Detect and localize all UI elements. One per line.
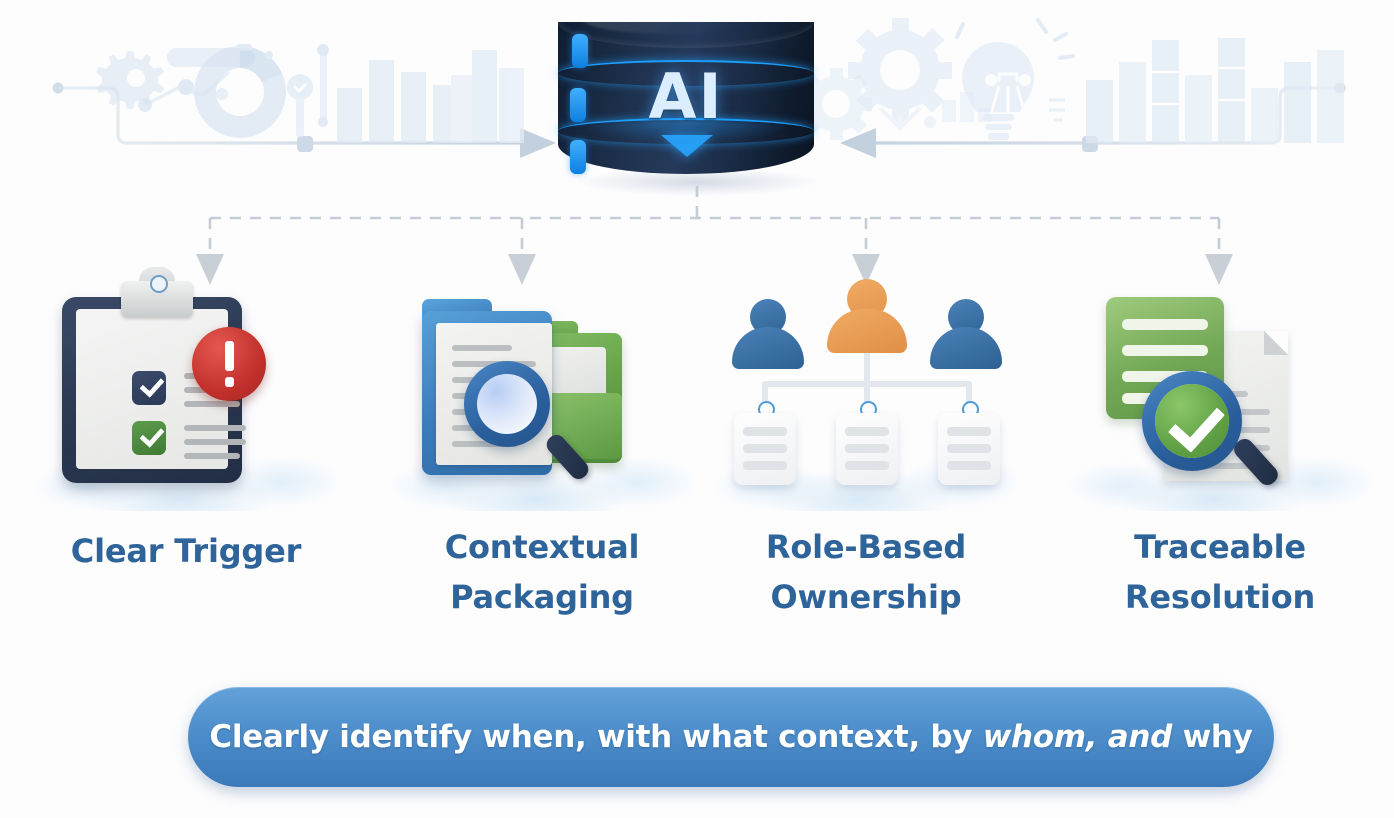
document-check-search-icon xyxy=(1070,275,1370,505)
banner-italic-and: and xyxy=(1108,719,1172,755)
card-line xyxy=(947,461,991,470)
cylinder-gloss xyxy=(582,4,762,34)
card-line xyxy=(947,444,991,453)
deco-lightbulb xyxy=(957,20,1073,140)
deco-gear-right-large xyxy=(848,18,992,130)
check-icon xyxy=(139,422,164,448)
column-label-line1: Role-Based xyxy=(716,523,1016,573)
text-line xyxy=(184,401,240,407)
deco-bar-chart-left xyxy=(337,50,524,143)
card-line xyxy=(947,427,991,436)
magnifier-ring xyxy=(464,361,550,447)
summary-banner[interactable]: Clearly identify when, with what context… xyxy=(188,687,1274,787)
column-role-based-ownership: Role-Based Ownership xyxy=(716,275,1016,622)
flow-track-right xyxy=(840,83,1346,159)
magnifier-glass xyxy=(477,374,537,434)
column-label-line2: Resolution xyxy=(1070,573,1370,623)
approved-check-badge xyxy=(1155,384,1229,458)
flow-track-left xyxy=(53,83,557,159)
column-label-line1: Traceable xyxy=(1070,523,1370,573)
deco-scatter-line xyxy=(138,48,255,112)
card-line xyxy=(845,461,889,470)
card-line xyxy=(743,427,787,436)
person-body-right xyxy=(930,327,1002,369)
note-line xyxy=(1122,345,1208,356)
column-label: Contextual Packaging xyxy=(392,523,692,622)
check-icon xyxy=(139,372,164,398)
checkbox-checked-navy xyxy=(132,371,166,405)
column-label-line1: Clear Trigger xyxy=(36,527,336,577)
text-line xyxy=(184,439,246,445)
summary-banner-text: Clearly identify when, with what context… xyxy=(209,719,1252,755)
column-label-line2: Ownership xyxy=(716,573,1016,623)
magnifier-ring xyxy=(1142,371,1242,471)
folder-document-search-icon xyxy=(392,275,692,505)
ai-label: AI xyxy=(548,60,824,133)
org-card xyxy=(734,413,796,485)
alert-badge-icon xyxy=(192,327,266,401)
column-contextual-packaging: Contextual Packaging xyxy=(392,275,692,622)
text-line xyxy=(184,453,240,459)
check-icon xyxy=(1168,394,1225,453)
deco-slider xyxy=(287,44,329,138)
person-body-left xyxy=(732,327,804,369)
column-label: Clear Trigger xyxy=(36,527,336,577)
infographic-canvas: AI xyxy=(0,0,1394,818)
banner-part-3: why xyxy=(1172,719,1253,755)
document-corner-fold xyxy=(1264,331,1288,355)
clipboard-alert-icon xyxy=(36,275,336,505)
org-card xyxy=(938,413,1000,485)
column-label-line1: Contextual xyxy=(392,523,692,573)
exclamation-dot xyxy=(225,377,234,387)
column-traceable-resolution: Traceable Resolution xyxy=(1070,275,1370,622)
ai-database-cylinder: AI xyxy=(548,8,848,198)
deco-gear-left xyxy=(96,51,164,109)
card-line xyxy=(845,427,889,436)
column-label: Role-Based Ownership xyxy=(716,523,1016,622)
card-line xyxy=(743,444,787,453)
cylinder-caret-glow xyxy=(661,135,713,157)
deco-donut-chart xyxy=(205,44,275,127)
deco-bar-chart-right xyxy=(1086,38,1344,143)
column-label-line2: Packaging xyxy=(392,573,692,623)
exclamation-bar xyxy=(225,341,234,371)
card-line xyxy=(845,444,889,453)
card-line xyxy=(743,461,787,470)
banner-part-2 xyxy=(1097,719,1108,755)
person-body-center xyxy=(827,309,907,353)
banner-italic-whom: whom, xyxy=(983,719,1098,755)
text-line xyxy=(452,345,512,351)
clipboard-clip-hole xyxy=(150,275,168,293)
cylinder-chip xyxy=(570,140,586,174)
column-label: Traceable Resolution xyxy=(1070,523,1370,622)
note-line xyxy=(1122,319,1208,330)
column-clear-trigger: Clear Trigger xyxy=(36,275,336,577)
checkbox-checked-green xyxy=(132,421,166,455)
text-line xyxy=(184,425,246,431)
banner-part-1: Clearly identify when, with what context… xyxy=(209,719,982,755)
org-chart-people-icon xyxy=(716,275,1016,505)
org-card xyxy=(836,413,898,485)
